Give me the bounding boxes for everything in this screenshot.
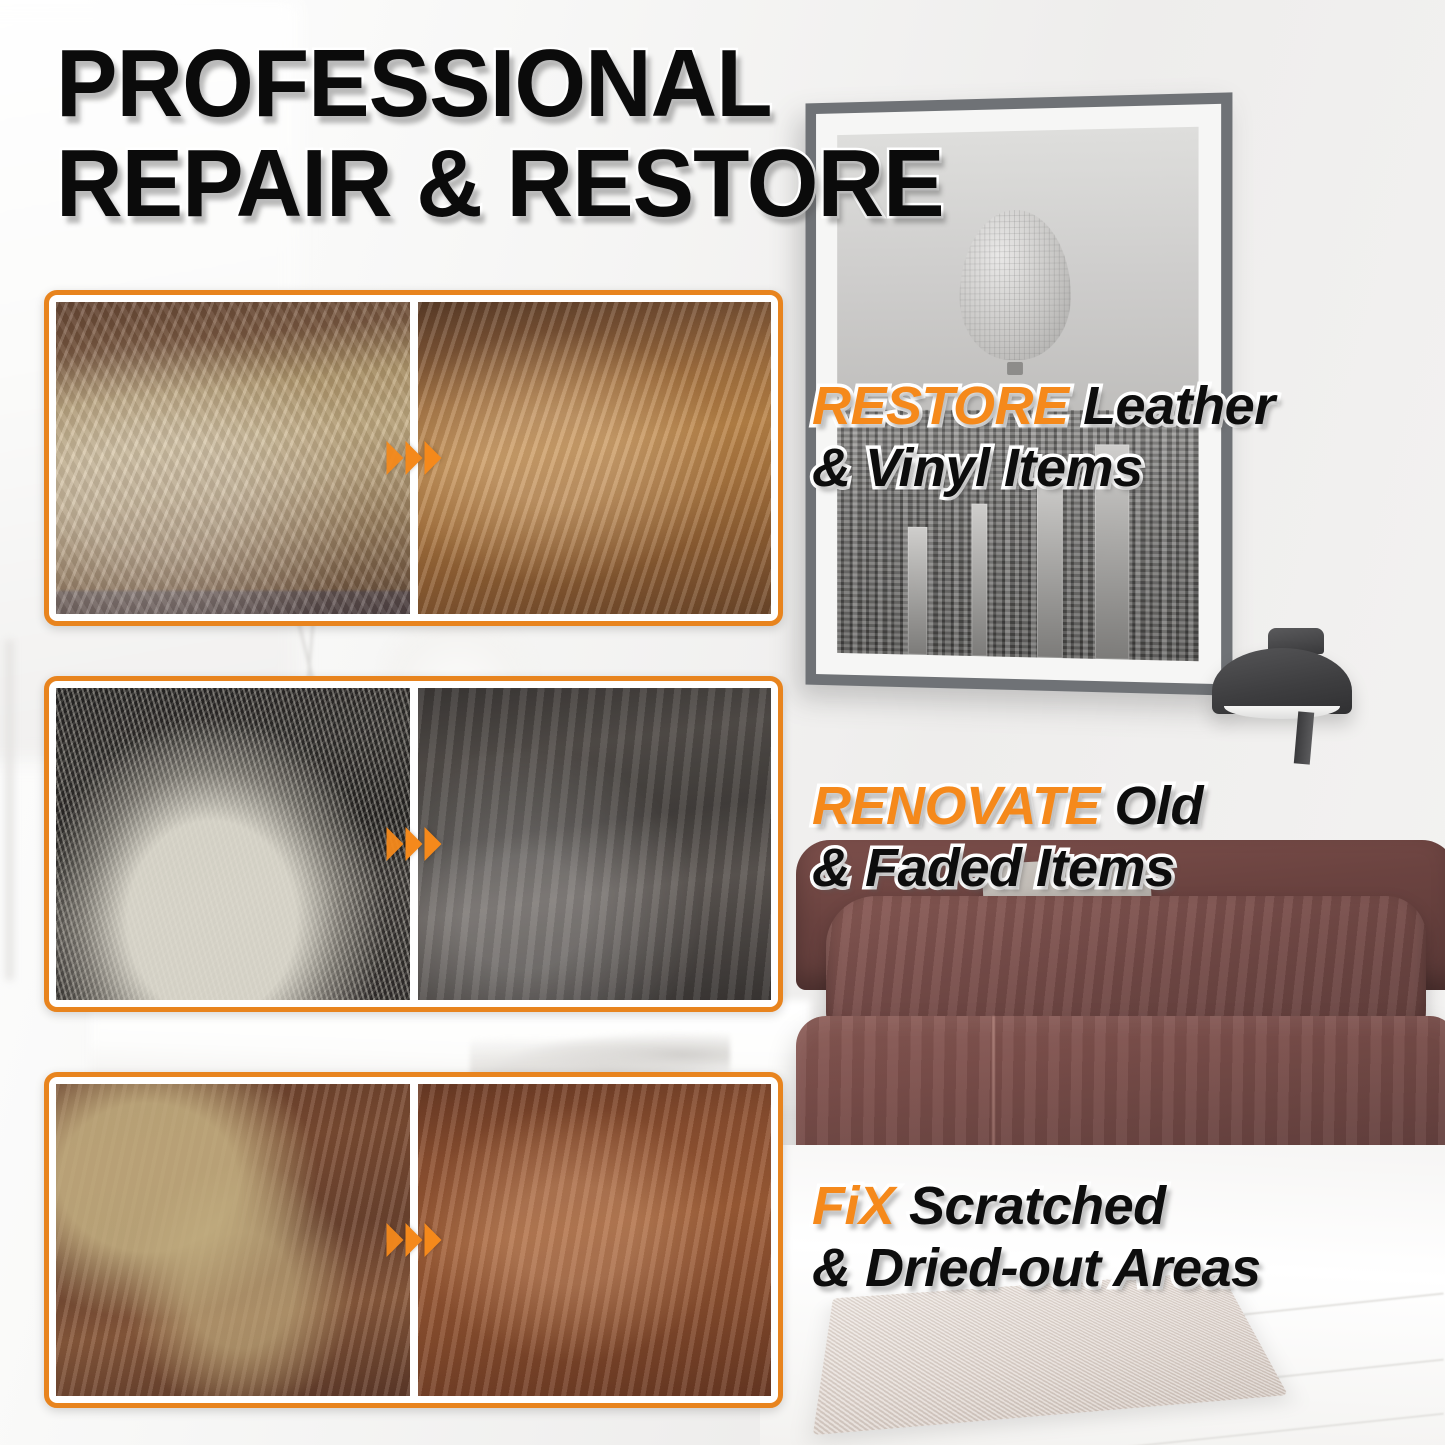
- before-photo: [56, 1084, 410, 1396]
- after-photo: [418, 302, 772, 614]
- after-photo: [418, 688, 772, 1000]
- before-after-panel-renovate: Cracked peeling dark grey leather reclin…: [44, 676, 783, 1012]
- feature-keyword: RENOVATE: [812, 776, 1100, 836]
- feature-line1-rest: Scratched: [895, 1176, 1166, 1236]
- before-photo: [56, 302, 410, 614]
- feature-line1-rest: Leather: [1069, 376, 1275, 436]
- feature-line1-rest: Old: [1100, 776, 1203, 836]
- page-title: PROFESSIONAL REPAIR & RESTORE: [56, 34, 1170, 234]
- feature-renovate: RENOVATE Old & Faded Items: [812, 776, 1203, 899]
- skyscraper: [908, 527, 928, 655]
- balloon-basket: [1007, 362, 1023, 375]
- feature-line2: & Faded Items: [812, 838, 1203, 900]
- before-photo: [56, 688, 410, 1000]
- skyscraper: [972, 503, 988, 656]
- before-after-panel-fix: Brown leather sofa with dried-out discol…: [44, 1072, 783, 1408]
- after-photo: [418, 1084, 772, 1396]
- feature-line2: & Dried-out Areas: [812, 1238, 1261, 1300]
- skyscraper: [1037, 474, 1063, 658]
- feature-fix: FiX Scratched & Dried-out Areas: [812, 1176, 1261, 1299]
- feature-restore: RESTORE Leather & Vinyl Items: [812, 376, 1275, 499]
- feature-keyword: RESTORE: [812, 376, 1069, 436]
- window-mullion: [6, 640, 13, 980]
- feature-line2: & Vinyl Items: [812, 438, 1275, 500]
- feature-keyword: FiX: [812, 1176, 895, 1236]
- before-after-panel-restore: Faded worn tan leather sofa cushions bef…: [44, 290, 783, 626]
